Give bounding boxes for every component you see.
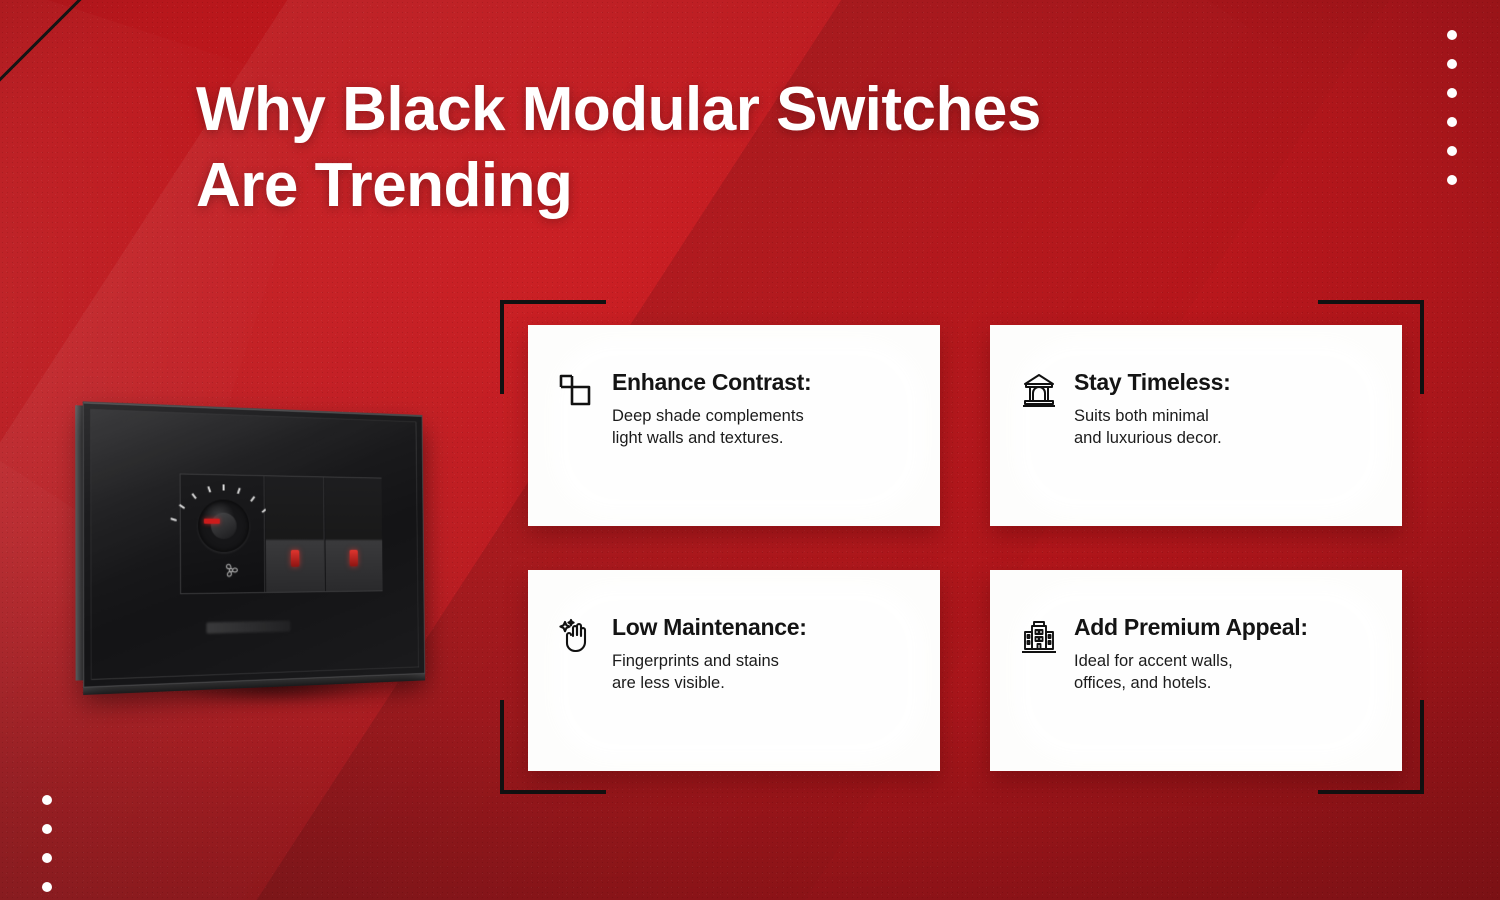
- dial-knob[interactable]: [211, 513, 237, 539]
- card-text: Stay Timeless: Suits both minimal and lu…: [1074, 369, 1230, 449]
- decorative-dot: [1447, 117, 1457, 127]
- dot-column-top-right: [1447, 30, 1457, 185]
- decorative-dot: [1447, 88, 1457, 98]
- switch-plate: [83, 401, 425, 687]
- benefit-card-grid: Enhance Contrast: Deep shade complements…: [528, 325, 1402, 771]
- benefit-card-low-maintenance: Low Maintenance: Fingerprints and stains…: [528, 570, 940, 771]
- rocker-switch-1[interactable]: [265, 476, 325, 592]
- sparkling-hand-icon: [556, 616, 598, 658]
- decorative-dot: [1447, 175, 1457, 185]
- dot-column-bottom-left: [42, 795, 52, 900]
- card-description: Fingerprints and stains are less visible…: [612, 650, 807, 694]
- decorative-dot: [1447, 30, 1457, 40]
- rocker-indicator-led: [291, 550, 300, 567]
- dial-indicator: [204, 519, 220, 524]
- decorative-dot: [1447, 59, 1457, 69]
- card-description: Suits both minimal and luxurious decor.: [1074, 405, 1230, 449]
- fan-icon: [221, 560, 241, 580]
- decorative-dot: [42, 882, 52, 892]
- decorative-dot: [42, 853, 52, 863]
- plate-brand-mark: [206, 620, 290, 633]
- office-building-icon: [1018, 616, 1060, 658]
- card-text: Add Premium Appeal: Ideal for accent wal…: [1074, 614, 1308, 694]
- overlapping-squares-icon: [556, 371, 598, 413]
- benefit-card-stay-timeless: Stay Timeless: Suits both minimal and lu…: [990, 325, 1402, 526]
- decorative-dot: [42, 795, 52, 805]
- benefit-card-enhance-contrast: Enhance Contrast: Deep shade complements…: [528, 325, 940, 526]
- corner-diagonal-line: [0, 0, 188, 93]
- card-text: Low Maintenance: Fingerprints and stains…: [612, 614, 807, 694]
- benefit-card-add-premium-appeal: Add Premium Appeal: Ideal for accent wal…: [990, 570, 1402, 771]
- card-title: Enhance Contrast:: [612, 370, 811, 396]
- card-title: Low Maintenance:: [612, 615, 807, 641]
- rocker-indicator-led: [350, 550, 358, 567]
- card-title: Add Premium Appeal:: [1074, 615, 1308, 641]
- card-description: Ideal for accent walls, offices, and hot…: [1074, 650, 1308, 694]
- rocker-switch-2[interactable]: [325, 477, 383, 591]
- decorative-dot: [1447, 146, 1457, 156]
- fan-regulator-dial[interactable]: [198, 499, 250, 552]
- switch-module: [180, 473, 383, 594]
- decorative-dot: [42, 824, 52, 834]
- page-title: Why Black Modular Switches Are Trending: [196, 72, 1256, 223]
- product-image-black-modular-switch: [86, 408, 438, 680]
- classical-building-icon: [1018, 371, 1060, 413]
- plate-face: [83, 401, 425, 687]
- dial-tick-marks: [189, 485, 258, 520]
- card-description: Deep shade complements light walls and t…: [612, 405, 811, 449]
- infographic-canvas: Why Black Modular Switches Are Trending: [0, 0, 1500, 900]
- card-text: Enhance Contrast: Deep shade complements…: [612, 369, 811, 449]
- card-title: Stay Timeless:: [1074, 370, 1230, 396]
- fan-regulator-cell: [181, 475, 266, 594]
